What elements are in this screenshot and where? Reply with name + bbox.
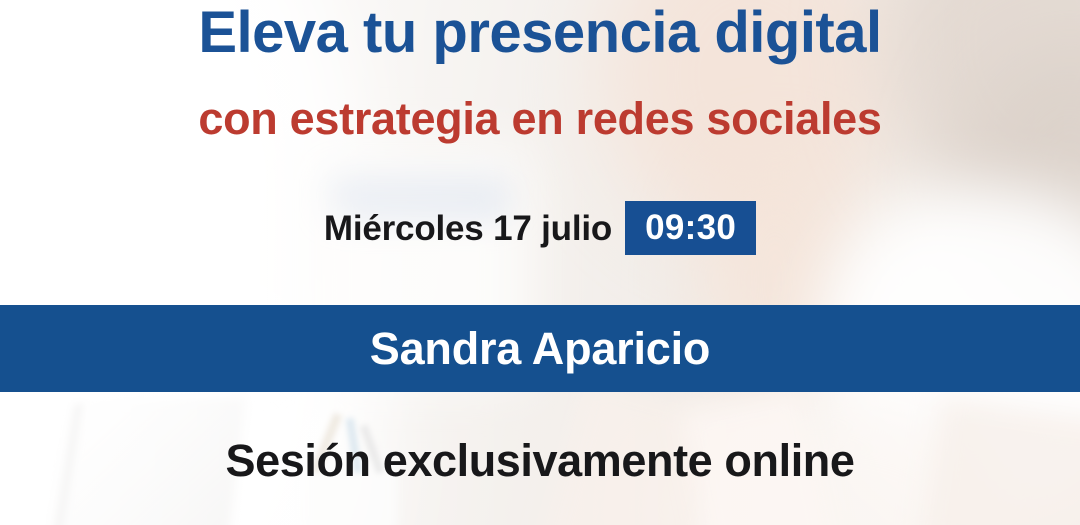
event-date-label: Miércoles 17 julio	[324, 211, 612, 246]
event-datetime-row: Miércoles 17 julio 09:30	[0, 203, 1080, 253]
promo-banner: Eleva tu presencia digital con estrategi…	[0, 0, 1080, 525]
speaker-name: Sandra Aparicio	[370, 326, 710, 371]
session-format-note: Sesión exclusivamente online	[0, 438, 1080, 483]
subheadline: con estrategia en redes sociales	[0, 96, 1080, 141]
headline: Eleva tu presencia digital	[0, 4, 1080, 62]
event-time-badge: 09:30	[625, 201, 756, 255]
banner-content: Eleva tu presencia digital con estrategi…	[0, 0, 1080, 525]
speaker-band: Sandra Aparicio	[0, 305, 1080, 392]
